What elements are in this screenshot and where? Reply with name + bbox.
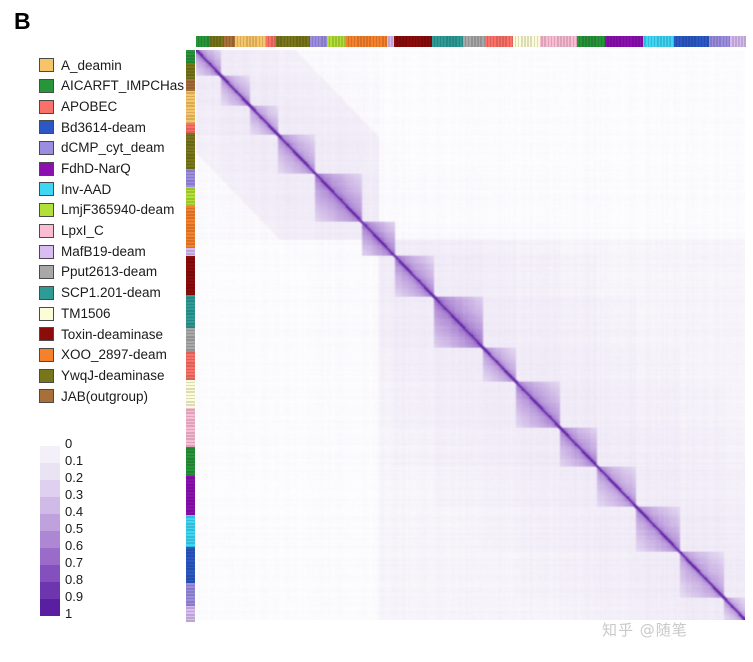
legend-item-label: YwqJ-deaminase <box>61 369 165 383</box>
value-scale-tick: 1 <box>65 607 72 620</box>
value-scale-band <box>40 463 60 480</box>
legend-item: TM1506 <box>39 303 184 324</box>
legend-item-label: LmjF365940-deam <box>61 203 174 217</box>
value-scale-band <box>40 480 60 497</box>
legend-item: LmjF365940-deam <box>39 200 184 221</box>
panel-label: B <box>14 8 31 35</box>
legend-item-label: Inv-AAD <box>61 183 111 197</box>
value-scale-legend: 00.10.20.30.40.50.60.70.80.91 <box>40 437 150 617</box>
legend-item-label: APOBEC <box>61 100 117 114</box>
legend-item: dCMP_cyt_deam <box>39 138 184 159</box>
legend-item: YwqJ-deaminase <box>39 365 184 386</box>
value-scale-tick: 0.9 <box>65 590 83 603</box>
value-scale-band <box>40 514 60 531</box>
legend-color-swatch <box>39 245 54 259</box>
legend-color-swatch <box>39 348 54 362</box>
legend-item-label: A_deamin <box>61 59 122 73</box>
value-scale-tick: 0 <box>65 437 72 450</box>
legend-item-label: Toxin-deaminase <box>61 328 163 342</box>
family-legend: A_deamin AICARFT_IMPCHas APOBEC Bd3614-d… <box>39 55 184 407</box>
legend-item-label: FdhD-NarQ <box>61 162 131 176</box>
annotation-cell <box>186 620 195 622</box>
legend-color-swatch <box>39 100 54 114</box>
value-scale-tick: 0.7 <box>65 556 83 569</box>
legend-color-swatch <box>39 265 54 279</box>
legend-item: JAB(outgroup) <box>39 386 184 407</box>
legend-color-swatch <box>39 79 54 93</box>
value-scale-tick-labels: 00.10.20.30.40.50.60.70.80.91 <box>65 437 145 617</box>
value-scale-tick: 0.6 <box>65 539 83 552</box>
legend-color-swatch <box>39 224 54 238</box>
legend-color-swatch <box>39 369 54 383</box>
legend-color-swatch <box>39 286 54 300</box>
legend-item-label: XOO_2897-deam <box>61 348 167 362</box>
similarity-matrix <box>186 36 746 620</box>
legend-color-swatch <box>39 141 54 155</box>
legend-item: Toxin-deaminase <box>39 324 184 345</box>
legend-item: SCP1.201-deam <box>39 283 184 304</box>
value-scale-tick: 0.2 <box>65 471 83 484</box>
legend-color-swatch <box>39 162 54 176</box>
legend-color-swatch <box>39 327 54 341</box>
legend-item-label: Pput2613-deam <box>61 265 157 279</box>
legend-item-label: JAB(outgroup) <box>61 390 148 404</box>
value-scale-gradient-bar <box>40 446 60 616</box>
legend-item: Inv-AAD <box>39 179 184 200</box>
legend-item: Pput2613-deam <box>39 262 184 283</box>
legend-item: FdhD-NarQ <box>39 158 184 179</box>
value-scale-band <box>40 582 60 599</box>
legend-item-label: SCP1.201-deam <box>61 286 161 300</box>
legend-item-label: Bd3614-deam <box>61 121 146 135</box>
value-scale-tick: 0.8 <box>65 573 83 586</box>
value-scale-band <box>40 599 60 616</box>
value-scale-band <box>40 446 60 463</box>
legend-color-swatch <box>39 58 54 72</box>
value-scale-band <box>40 548 60 565</box>
annotation-cell <box>744 36 746 47</box>
legend-item-label: LpxI_C <box>61 224 104 238</box>
legend-item: LpxI_C <box>39 221 184 242</box>
legend-color-swatch <box>39 203 54 217</box>
legend-color-swatch <box>39 182 54 196</box>
legend-item-label: TM1506 <box>61 307 111 321</box>
legend-item: MafB19-deam <box>39 241 184 262</box>
value-scale-tick: 0.1 <box>65 454 83 467</box>
value-scale-band <box>40 531 60 548</box>
legend-item: XOO_2897-deam <box>39 345 184 366</box>
legend-color-swatch <box>39 389 54 403</box>
legend-color-swatch <box>39 120 54 134</box>
legend-item: A_deamin <box>39 55 184 76</box>
legend-item-label: AICARFT_IMPCHas <box>61 79 184 93</box>
value-scale-tick: 0.3 <box>65 488 83 501</box>
column-family-annotation-track <box>196 36 745 47</box>
heatmap-plot <box>196 50 745 620</box>
value-scale-band <box>40 497 60 514</box>
legend-item: Bd3614-deam <box>39 117 184 138</box>
legend-color-swatch <box>39 307 54 321</box>
value-scale-tick: 0.4 <box>65 505 83 518</box>
value-scale-band <box>40 565 60 582</box>
row-family-annotation-track <box>186 50 195 620</box>
legend-item-label: dCMP_cyt_deam <box>61 141 165 155</box>
legend-item: APOBEC <box>39 96 184 117</box>
legend-item-label: MafB19-deam <box>61 245 146 259</box>
value-scale-tick: 0.5 <box>65 522 83 535</box>
legend-item: AICARFT_IMPCHas <box>39 76 184 97</box>
watermark: 知乎 @随笔 <box>602 619 688 640</box>
